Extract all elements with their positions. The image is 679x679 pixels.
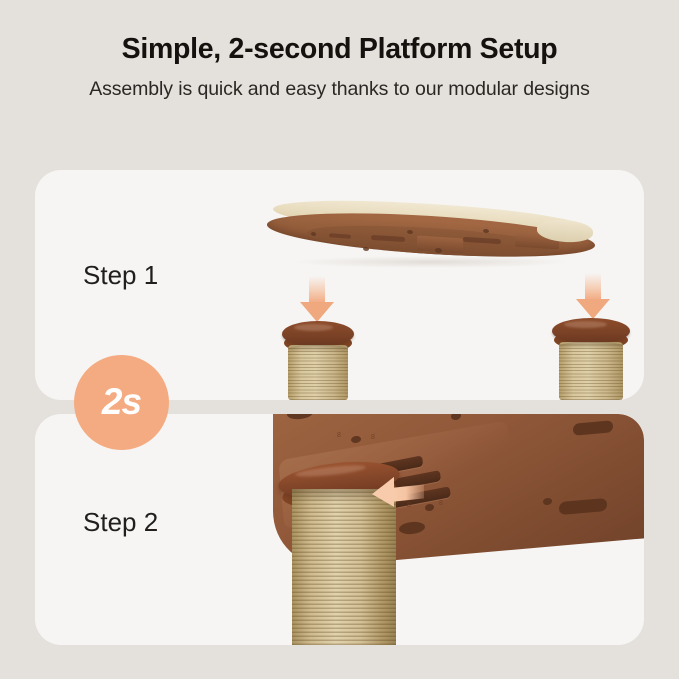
- sisal-post-attached: [292, 489, 396, 645]
- platform-mold-mark: 8: [439, 500, 443, 507]
- platform-mold-mark: 8: [371, 434, 375, 441]
- arrow-stem: [309, 276, 325, 304]
- left-arrow-icon: [372, 476, 424, 512]
- header: Simple, 2-second Platform Setup Assembly…: [0, 0, 679, 101]
- page-title: Simple, 2-second Platform Setup: [0, 32, 679, 66]
- duration-badge: 2s: [74, 355, 169, 450]
- post-sisal-rope: [559, 342, 623, 400]
- platform-screw-hole: [435, 248, 442, 253]
- platform-underside-illustration: [267, 204, 595, 266]
- duration-badge-label: 2s: [102, 381, 141, 423]
- arrow-stem: [394, 484, 424, 501]
- post-cap-highlight: [564, 321, 607, 328]
- platform-screw-hole: [311, 232, 316, 236]
- sisal-post-left: [282, 321, 354, 400]
- post-rope-shadow: [559, 342, 623, 350]
- post-sisal-rope: [292, 489, 396, 645]
- platform-screw-hole: [363, 247, 369, 251]
- sisal-post-right: [552, 318, 630, 400]
- arrow-head: [372, 477, 394, 509]
- down-arrow-icon: [300, 276, 334, 322]
- platform-screw-hole: [483, 229, 489, 233]
- post-sisal-rope: [288, 345, 347, 400]
- down-arrow-icon: [576, 273, 610, 319]
- post-rope-shadow: [288, 345, 347, 353]
- arrow-head: [300, 302, 334, 322]
- platform-drop-shadow: [291, 256, 571, 268]
- step-1-label: Step 1: [83, 260, 158, 291]
- post-cap-highlight: [294, 324, 334, 331]
- arrow-stem: [585, 273, 601, 301]
- arrow-head: [576, 299, 610, 319]
- platform-mold-mark: 8: [337, 432, 341, 439]
- platform-screw-hole: [407, 230, 413, 234]
- page-subtitle: Assembly is quick and easy thanks to our…: [0, 78, 679, 101]
- step-2-label: Step 2: [83, 507, 158, 538]
